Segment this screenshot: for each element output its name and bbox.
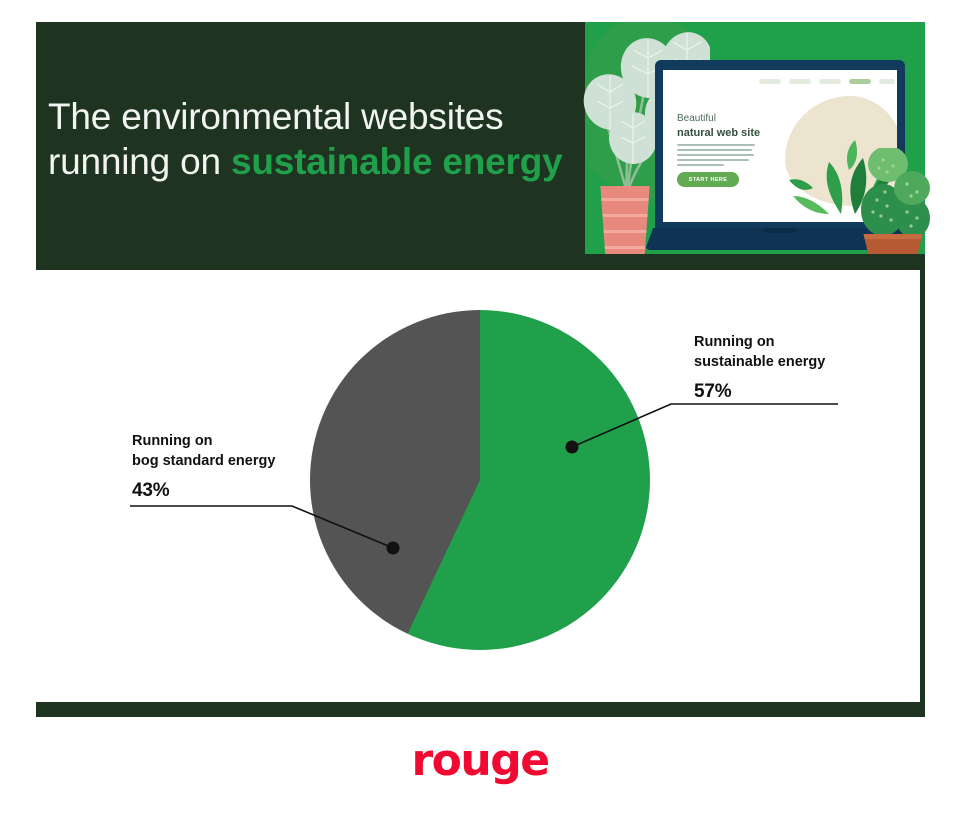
pie-slices — [310, 310, 650, 650]
pie-chart — [310, 310, 650, 650]
screen-nav-item-5 — [879, 79, 895, 84]
screen-body-text — [677, 144, 755, 169]
cactus-svg — [855, 148, 937, 240]
callout-left-percent: 43% — [132, 480, 275, 502]
callout-left-line1: Running on — [132, 433, 213, 449]
callout-left-line2: bog standard energy — [132, 453, 275, 469]
screen-cta-button[interactable]: START HERE — [677, 172, 739, 187]
screen-heading-line2: natural web site — [677, 126, 760, 141]
headline-line-1: The environmental websites — [48, 96, 503, 137]
callout-right-line2: sustainable energy — [694, 354, 825, 370]
rouge-logo: rouge — [0, 735, 960, 786]
screen-nav-item-4 — [849, 79, 871, 84]
cactus-plant — [855, 148, 937, 260]
laptop-base-notch — [763, 228, 797, 233]
screen-nav-item-1 — [759, 79, 781, 84]
page-title: The environmental websites running on su… — [48, 94, 585, 184]
screen-heading: Beautiful natural web site — [677, 112, 760, 140]
callout-right-line1: Running on — [694, 334, 775, 350]
callout-left-title: Running on bog standard energy — [132, 432, 275, 471]
headline-accent: sustainable energy — [231, 141, 563, 182]
header-panel: The environmental websites running on su… — [36, 22, 585, 270]
screen-nav-item-2 — [789, 79, 811, 84]
callout-bog-standard: Running on bog standard energy 43% — [132, 432, 275, 502]
callout-sustainable: Running on sustainable energy 57% — [694, 333, 825, 403]
headline-line-2: running on sustainable energy — [48, 139, 585, 184]
screen-nav-item-3 — [819, 79, 841, 84]
infographic-canvas: The environmental websites running on su… — [0, 0, 960, 814]
callout-right-percent: 57% — [694, 381, 825, 403]
headline-prefix: running on — [48, 141, 231, 182]
callout-right-title: Running on sustainable energy — [694, 333, 825, 372]
screen-heading-line1: Beautiful — [677, 113, 716, 124]
